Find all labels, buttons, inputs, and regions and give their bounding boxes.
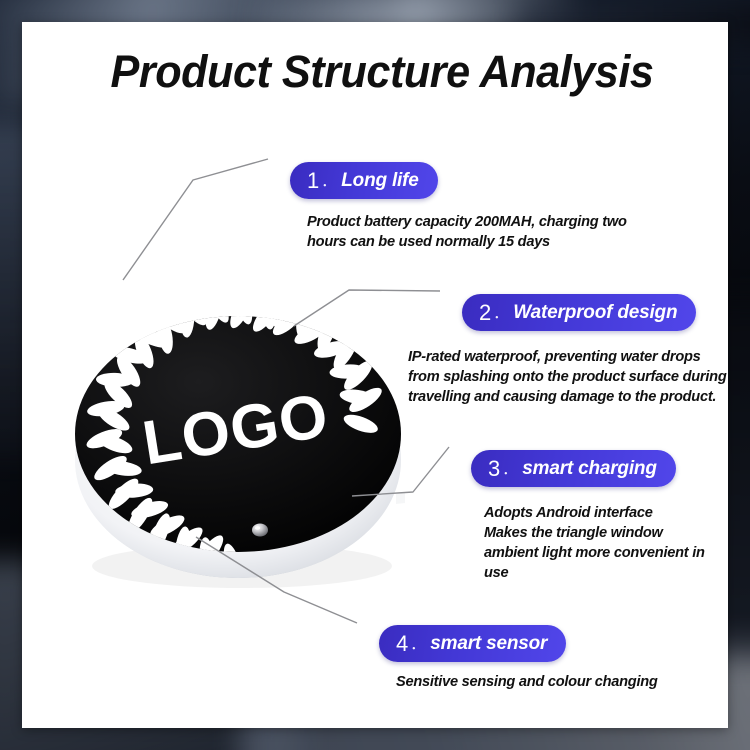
- desc-line: use: [484, 563, 724, 583]
- callout-description-3: Adopts Android interface Makes the trian…: [484, 503, 724, 583]
- callout-description-4: Sensitive sensing and colour changing: [396, 672, 696, 692]
- charging-port: [396, 492, 405, 504]
- callout-label: smart charging: [522, 458, 656, 480]
- callout-description-1: Product battery capacity 200MAH, chargin…: [307, 212, 653, 252]
- desc-line: travelling and causing damage to the pro…: [408, 387, 742, 407]
- callout-number: 2: [479, 302, 491, 324]
- callout-separator: ．: [321, 170, 336, 191]
- callout-label: Long life: [341, 170, 418, 192]
- callout-description-2: IP-rated waterproof, preventing water dr…: [408, 347, 742, 407]
- infographic-canvas: Product Structure Analysis: [0, 0, 750, 750]
- callout-number: 4: [396, 633, 408, 655]
- desc-line: IP-rated waterproof, preventing water dr…: [408, 347, 742, 367]
- desc-line: Adopts Android interface: [484, 503, 724, 523]
- desc-line: Makes the triangle window: [484, 523, 724, 543]
- callout-number: 3: [488, 458, 500, 480]
- callout-badge-4[interactable]: 4 ． smart sensor: [379, 625, 566, 662]
- sensor-dot: [252, 524, 268, 537]
- desc-line: Sensitive sensing and colour changing: [396, 672, 696, 692]
- callout-badge-1[interactable]: 1 ． Long life: [290, 162, 438, 199]
- leader-line-1: [123, 159, 268, 280]
- callout-separator: ．: [410, 633, 425, 654]
- page-title: Product Structure Analysis: [75, 49, 689, 94]
- desc-line: ambient light more convenient in: [484, 543, 724, 563]
- callout-label: smart sensor: [430, 633, 547, 655]
- callout-number: 1: [307, 170, 319, 192]
- desc-line: Product battery capacity 200MAH, chargin…: [307, 212, 653, 232]
- callout-badge-2[interactable]: 2 ． Waterproof design: [462, 294, 696, 331]
- callout-badge-3[interactable]: 3 ． smart charging: [471, 450, 676, 487]
- callout-separator: ．: [493, 302, 508, 323]
- product-image: LOGO: [66, 294, 414, 604]
- callout-separator: ．: [502, 458, 517, 479]
- desc-line: hours can be used normally 15 days: [307, 232, 653, 252]
- desc-line: from splashing onto the product surface …: [408, 367, 742, 387]
- callout-label: Waterproof design: [513, 302, 677, 324]
- content-card: Product Structure Analysis: [22, 22, 728, 728]
